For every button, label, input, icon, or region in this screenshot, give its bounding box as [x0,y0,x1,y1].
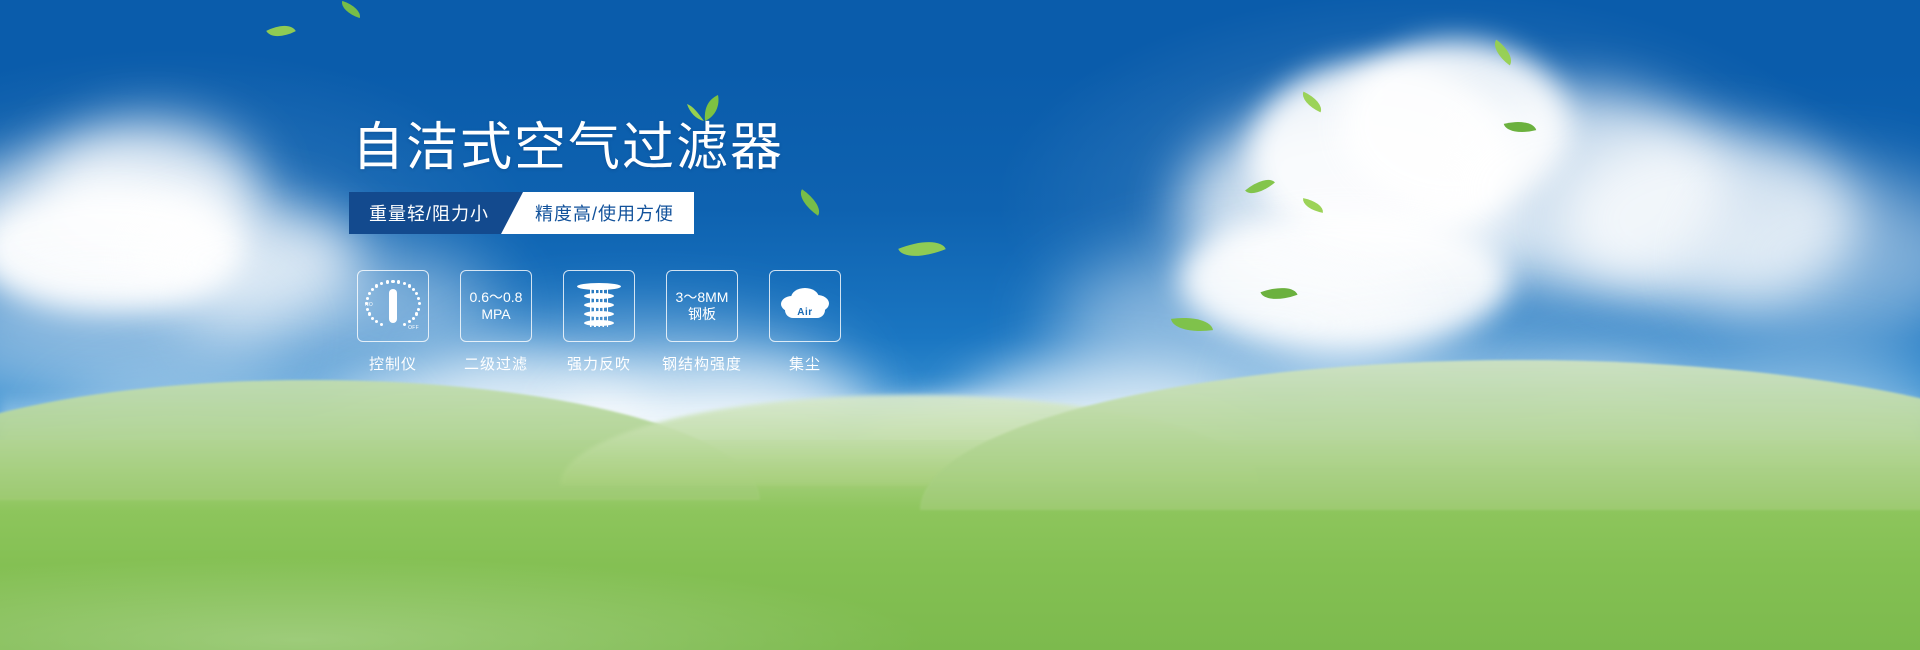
air-cloud-icon: Air [779,286,831,326]
tag-lightweight: 重量轻/阻力小 [349,192,523,234]
feature-label-steel: 钢结构强度 [662,353,742,374]
coil-blow-icon [577,281,621,331]
feature-box: NO OFF [357,270,429,342]
gauge-label-off: OFF [408,325,419,331]
feature-item-filter: 0.6～0.8 MPA 二级过滤 [461,270,531,374]
air-label: Air [779,307,831,318]
feature-label-dust: 集尘 [789,353,821,374]
tag-row: 重量轻/阻力小 精度高/使用方便 [349,192,694,234]
banner-stage: 自洁式空气过滤器 重量轻/阻力小 精度高/使用方便 [0,0,1920,650]
gauge-needle [389,289,397,323]
gauge-label-no: NO [365,302,373,308]
page-title: 自洁式空气过滤器 [352,118,784,178]
pressure-value: 0.6～0.8 MPA [470,289,523,323]
feature-box: 0.6～0.8 MPA [460,270,532,342]
tag-precision: 精度高/使用方便 [501,192,694,234]
steel-plate-value: 3～8MM 钢板 [676,289,729,323]
feature-item-controller: NO OFF 控制仪 [358,270,428,374]
feature-row: NO OFF 控制仪 0.6～0.8 MPA 二级过滤 [358,270,840,374]
feature-item-dust: Air 集尘 [770,270,840,374]
feature-box [563,270,635,342]
feature-item-steel: 3～8MM 钢板 钢结构强度 [667,270,737,374]
feature-box: 3～8MM 钢板 [666,270,738,342]
feature-item-blowback: 强力反吹 [564,270,634,374]
feature-label-blowback: 强力反吹 [567,353,631,374]
feature-label-filter: 二级过滤 [464,353,528,374]
gauge-icon: NO OFF [365,280,421,332]
feature-box: Air [769,270,841,342]
feature-label-controller: 控制仪 [369,353,417,374]
banner-content: 自洁式空气过滤器 重量轻/阻力小 精度高/使用方便 [0,0,1920,650]
